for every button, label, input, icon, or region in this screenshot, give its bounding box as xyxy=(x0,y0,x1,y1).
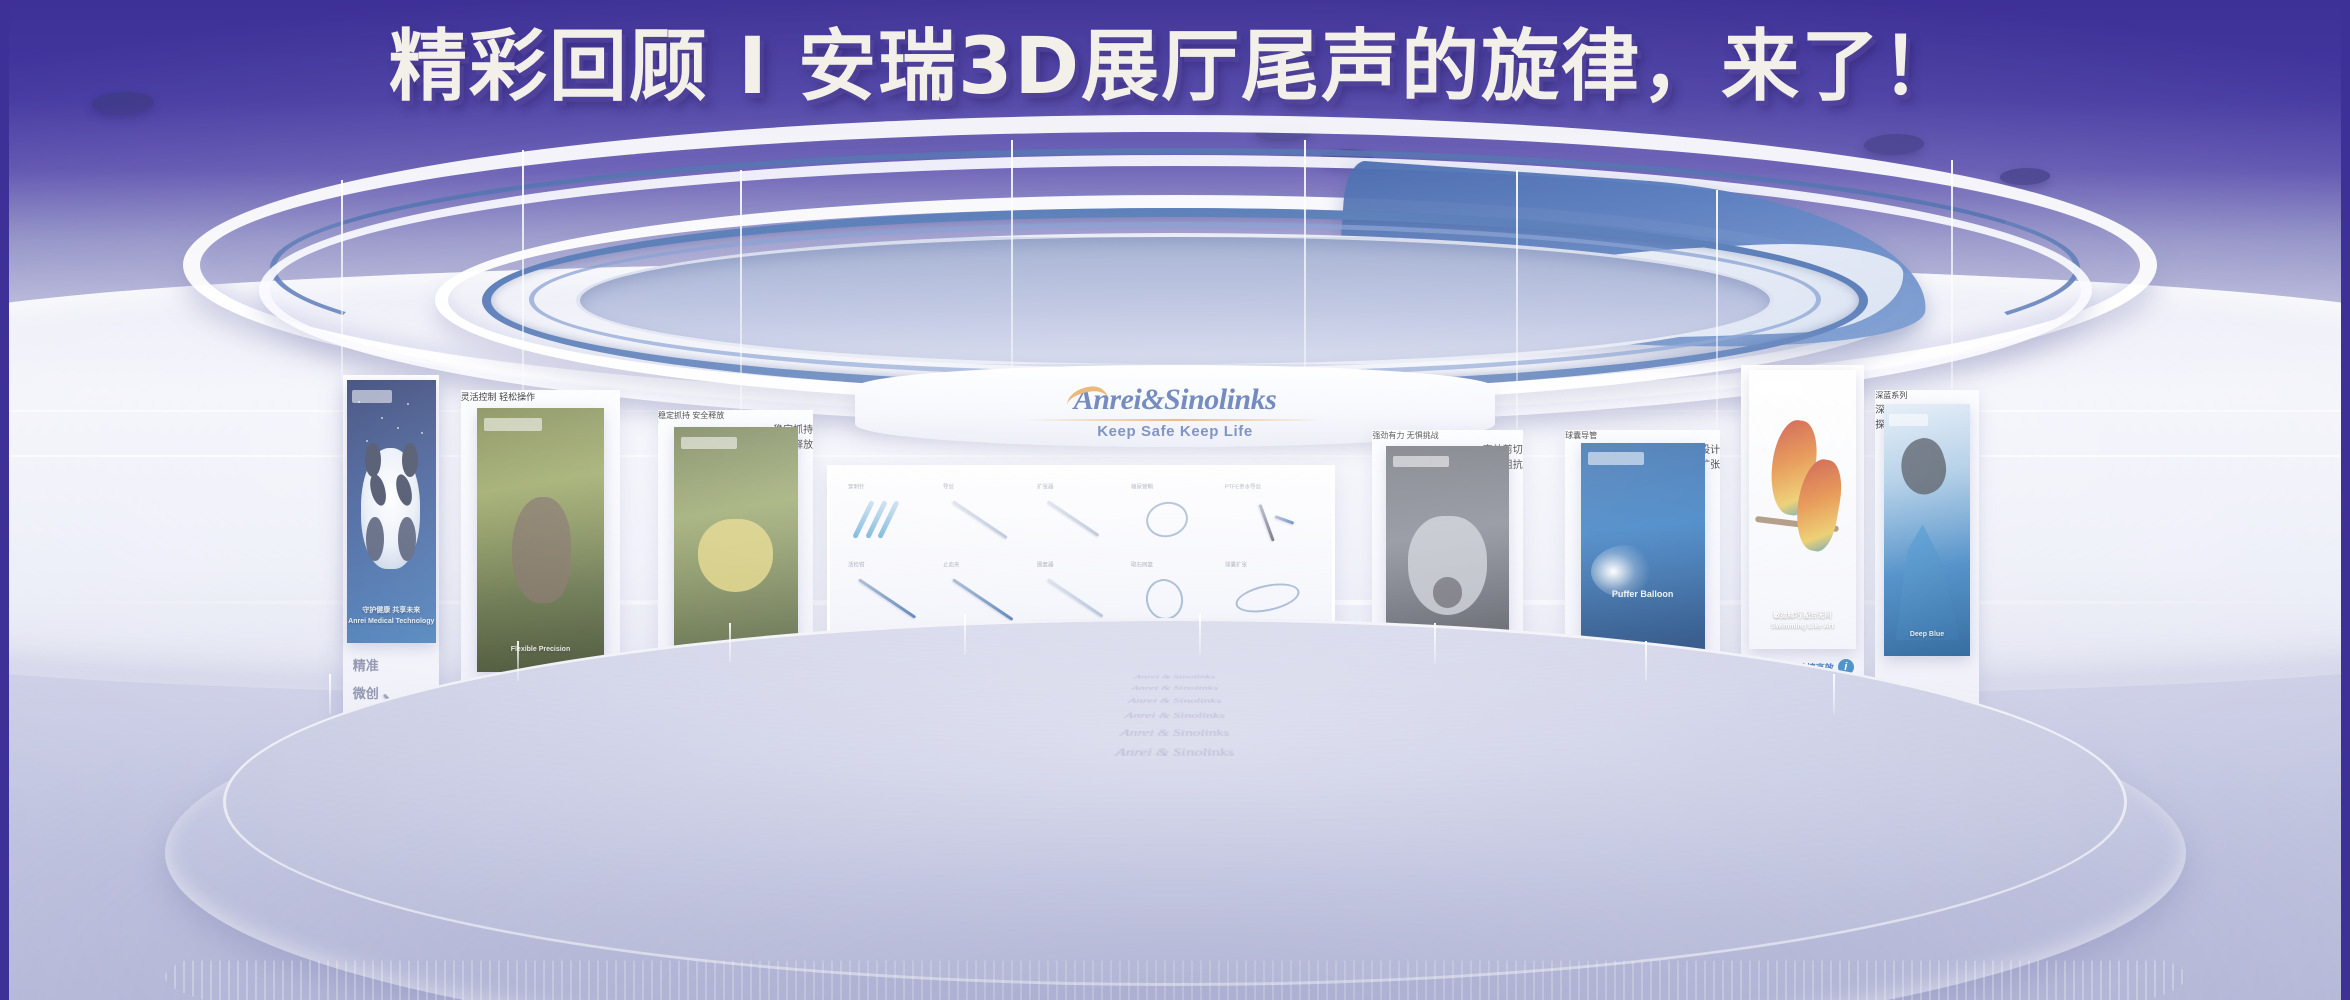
exhibition-banner: Anrei&Sinolinks Keep Safe Keep Life 守护健康… xyxy=(0,0,2350,1000)
lighting-vignette xyxy=(0,0,2350,1000)
right-edge-border xyxy=(2341,0,2350,1000)
left-edge-border xyxy=(0,0,9,1000)
